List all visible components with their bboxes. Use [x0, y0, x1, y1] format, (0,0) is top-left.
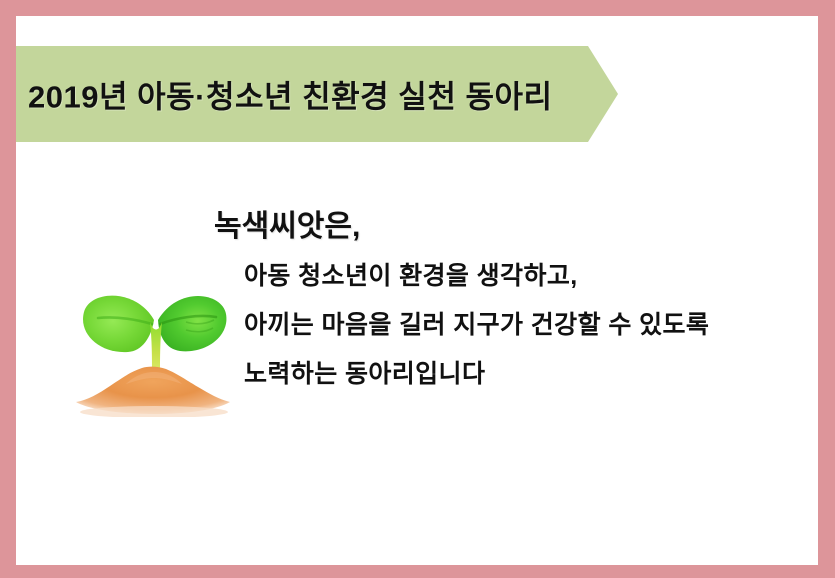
banner-title-text: 2019년 아동·청소년 친환경 실천 동아리: [28, 72, 553, 117]
frame-border-left: [0, 0, 16, 578]
body-text-block: 녹색씨앗은, 아동 청소년이 환경을 생각하고, 아끼는 마음을 길러 지구가 …: [214, 208, 804, 387]
title-banner: 2019년 아동·청소년 친환경 실천 동아리: [16, 46, 618, 142]
body-line-1: 아동 청소년이 환경을 생각하고,: [244, 264, 804, 289]
frame-border-bottom: [0, 565, 835, 578]
sprout-icon: [66, 262, 236, 417]
body-line-3: 노력하는 동아리입니다: [244, 362, 804, 387]
frame-border-right: [818, 0, 835, 578]
frame-border-top: [0, 0, 835, 16]
slide-canvas: 2019년 아동·청소년 친환경 실천 동아리: [0, 0, 835, 578]
body-line-2: 아끼는 마음을 길러 지구가 건강할 수 있도록: [244, 313, 804, 338]
body-lead-text: 녹색씨앗은,: [214, 208, 804, 246]
